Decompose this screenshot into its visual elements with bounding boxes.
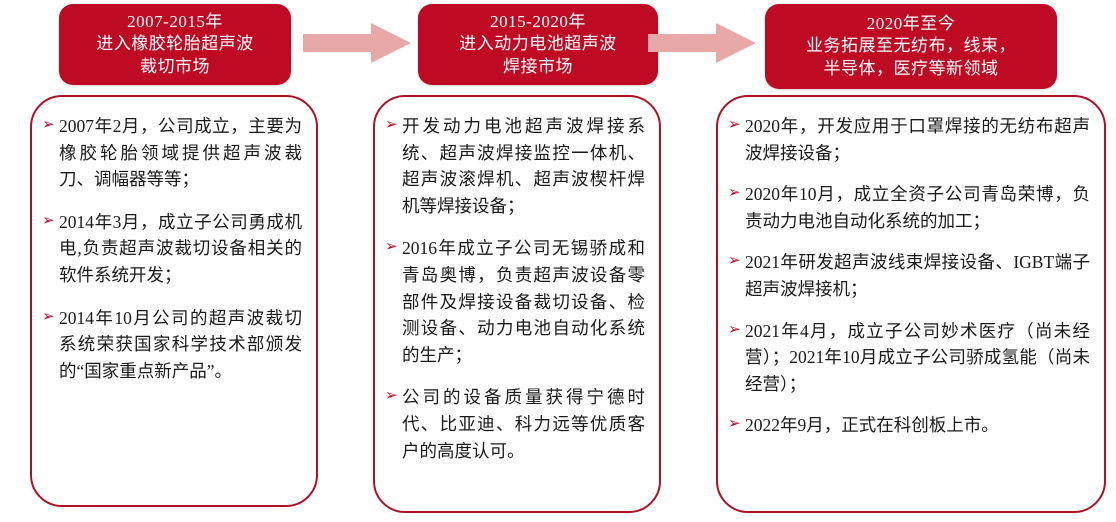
phase-2-header: 2015-2020年 进入动力电池超声波 焊接市场 xyxy=(418,4,658,85)
phase-1-header-line-3: 裁切市场 xyxy=(140,56,210,78)
phase-3-bullet-list: ➢ 2020年，开发应用于口罩焊接的无纺布超声波焊接设备； ➢ 2020年10月… xyxy=(728,113,1090,439)
phase-3-bullet-3-text: 2021年研发超声波线束焊接设备、IGBT端子超声波焊接机； xyxy=(745,249,1090,302)
phase-3-header: 2020年至今 业务拓展至无纺布，线束， 半导体，医疗等新领域 xyxy=(765,4,1057,89)
phase-2-body: ➢ 开发动力电池超声波焊接系统、超声波焊接监控一体机、超声波滚焊机、超声波楔杆焊… xyxy=(373,95,661,513)
arrowhead-bullet-icon: ➢ xyxy=(728,182,745,205)
phase-3-period: 2020年至今 xyxy=(867,13,956,35)
arrowhead-bullet-icon: ➢ xyxy=(42,306,59,329)
phase-2-period: 2015-2020年 xyxy=(490,11,586,33)
list-item: ➢ 2020年10月，成立全资子公司青岛荣博，负责动力电池自动化系统的加工； xyxy=(728,181,1090,234)
arrowhead-bullet-icon: ➢ xyxy=(385,236,402,259)
phase-3-bullet-2-text: 2020年10月，成立全资子公司青岛荣博，负责动力电池自动化系统的加工； xyxy=(745,181,1090,234)
timeline-phase-2: 2015-2020年 进入动力电池超声波 焊接市场 ➢ 开发动力电池超声波焊接系… xyxy=(373,0,667,522)
phase-1-bullet-list: ➢ 2007年2月，公司成立，主要为橡胶轮胎领域提供超声波裁刀、调幅器等等； ➢… xyxy=(42,113,302,384)
phase-1-header-line-2: 进入橡胶轮胎超声波 xyxy=(96,33,254,55)
list-item: ➢ 2007年2月，公司成立，主要为橡胶轮胎领域提供超声波裁刀、调幅器等等； xyxy=(42,113,302,193)
timeline-phase-1: 2007-2015年 进入橡胶轮胎超声波 裁切市场 ➢ 2007年2月，公司成立… xyxy=(24,0,324,522)
arrowhead-bullet-icon: ➢ xyxy=(728,114,745,137)
phase-2-bullet-2-text: 2016年成立子公司无锡骄成和青岛奥博，负责超声波设备零部件及焊接设备裁切设备、… xyxy=(402,235,645,368)
list-item: ➢ 2021年4月，成立子公司妙术医疗（尚未经营）；2021年10月成立子公司骄… xyxy=(728,318,1090,398)
phase-2-header-line-2: 进入动力电池超声波 xyxy=(459,33,617,55)
timeline-phase-3: 2020年至今 业务拓展至无纺布，线束， 半导体，医疗等新领域 ➢ 2020年，… xyxy=(716,0,1106,522)
phase-1-bullet-2-text: 2014年3月，成立子公司勇成机电,负责超声波裁切设备相关的软件系统开发； xyxy=(59,209,302,289)
phase-2-bullet-1-text: 开发动力电池超声波焊接系统、超声波焊接监控一体机、超声波滚焊机、超声波楔杆焊机等… xyxy=(402,113,645,219)
list-item: ➢ 2014年3月，成立子公司勇成机电,负责超声波裁切设备相关的软件系统开发； xyxy=(42,209,302,289)
phase-2-bullet-3-text: 公司的设备质量获得宁德时代、比亚迪、科力远等优质客户的高度认可。 xyxy=(402,384,645,464)
phase-2-header-line-3: 焊接市场 xyxy=(503,56,573,78)
list-item: ➢ 开发动力电池超声波焊接系统、超声波焊接监控一体机、超声波滚焊机、超声波楔杆焊… xyxy=(385,113,645,219)
phase-3-header-line-3: 半导体，医疗等新领域 xyxy=(824,58,999,80)
list-item: ➢ 2016年成立子公司无锡骄成和青岛奥博，负责超声波设备零部件及焊接设备裁切设… xyxy=(385,235,645,368)
phase-1-period: 2007-2015年 xyxy=(127,11,223,33)
arrowhead-bullet-icon: ➢ xyxy=(728,250,745,273)
phase-3-body: ➢ 2020年，开发应用于口罩焊接的无纺布超声波焊接设备； ➢ 2020年10月… xyxy=(716,95,1106,513)
phase-2-bullet-list: ➢ 开发动力电池超声波焊接系统、超声波焊接监控一体机、超声波滚焊机、超声波楔杆焊… xyxy=(385,113,645,464)
phase-3-bullet-1-text: 2020年，开发应用于口罩焊接的无纺布超声波焊接设备； xyxy=(745,113,1090,166)
arrowhead-bullet-icon: ➢ xyxy=(42,210,59,233)
list-item: ➢ 2014年10月公司的超声波裁切系统荣获国家科学技术部颁发的“国家重点新产品… xyxy=(42,305,302,385)
phase-3-header-line-2: 业务拓展至无纺布，线束， xyxy=(806,35,1016,57)
arrowhead-bullet-icon: ➢ xyxy=(728,413,745,436)
arrowhead-bullet-icon: ➢ xyxy=(385,114,402,137)
arrowhead-bullet-icon: ➢ xyxy=(385,385,402,408)
company-history-timeline: 2007-2015年 进入橡胶轮胎超声波 裁切市场 ➢ 2007年2月，公司成立… xyxy=(0,0,1116,522)
list-item: ➢ 2020年，开发应用于口罩焊接的无纺布超声波焊接设备； xyxy=(728,113,1090,166)
phase-1-bullet-1-text: 2007年2月，公司成立，主要为橡胶轮胎领域提供超声波裁刀、调幅器等等； xyxy=(59,113,302,193)
phase-1-header: 2007-2015年 进入橡胶轮胎超声波 裁切市场 xyxy=(59,4,291,85)
phase-1-bullet-3-text: 2014年10月公司的超声波裁切系统荣获国家科学技术部颁发的“国家重点新产品”。 xyxy=(59,305,302,385)
phase-3-bullet-4-text: 2021年4月，成立子公司妙术医疗（尚未经营）；2021年10月成立子公司骄成氢… xyxy=(745,318,1090,398)
list-item: ➢ 公司的设备质量获得宁德时代、比亚迪、科力远等优质客户的高度认可。 xyxy=(385,384,645,464)
phase-3-bullet-5-text: 2022年9月，正式在科创板上市。 xyxy=(745,412,1090,439)
list-item: ➢ 2021年研发超声波线束焊接设备、IGBT端子超声波焊接机； xyxy=(728,249,1090,302)
arrowhead-bullet-icon: ➢ xyxy=(728,319,745,342)
list-item: ➢ 2022年9月，正式在科创板上市。 xyxy=(728,412,1090,439)
phase-1-body: ➢ 2007年2月，公司成立，主要为橡胶轮胎领域提供超声波裁刀、调幅器等等； ➢… xyxy=(30,95,318,507)
arrowhead-bullet-icon: ➢ xyxy=(42,114,59,137)
